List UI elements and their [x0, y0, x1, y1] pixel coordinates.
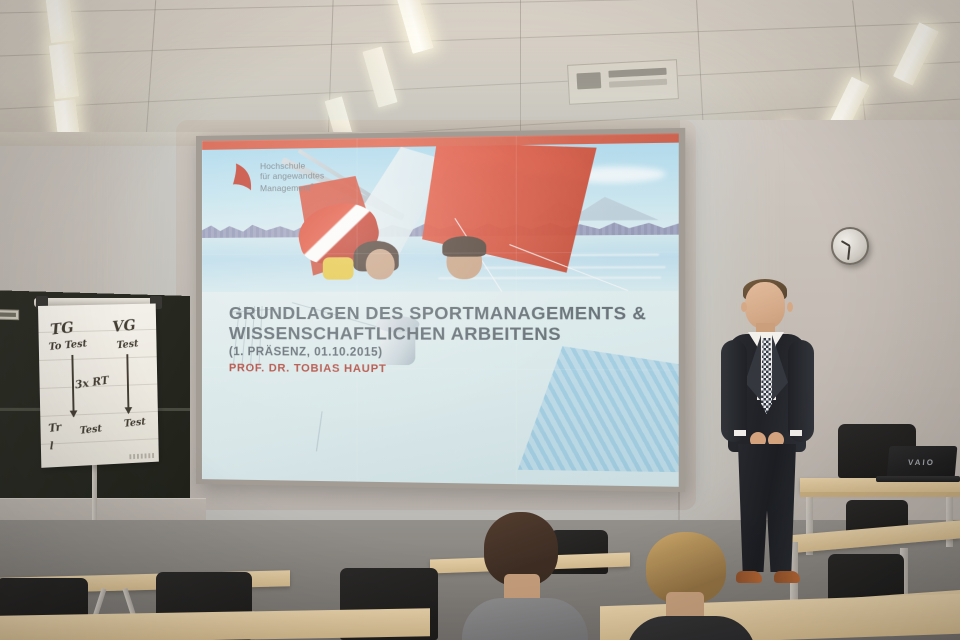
ceiling-light [362, 46, 397, 107]
ceiling-air-vent [567, 59, 679, 105]
flipchart-left-top: To Test [48, 338, 87, 353]
lecture-room-photo: Hochschule für angewandtes Management® G… [0, 0, 960, 640]
student-top [626, 616, 756, 640]
laptop-base[interactable] [876, 476, 960, 482]
slide-logo: Hochschule für angewandtes Management® [232, 161, 324, 194]
student-front-right [630, 532, 750, 640]
flipchart-right-bottom: Test [124, 417, 147, 430]
red-sail-logo-icon [232, 162, 253, 192]
flipchart-left-heading: TG [49, 318, 74, 338]
flipchart-middle-note: 3x RT [74, 374, 109, 392]
ceiling-light [893, 22, 939, 86]
logo-line-2: für angewandtes [260, 171, 324, 181]
flipchart-right-top: Test [116, 338, 139, 351]
student-front-left [462, 512, 582, 640]
flipchart-right-heading: VG [112, 316, 137, 336]
presenter-arm [721, 340, 747, 442]
presenter-arm [788, 340, 814, 442]
presenter-head [745, 282, 785, 329]
flipchart-brand-mark [129, 453, 154, 459]
presenter-tie [761, 338, 772, 414]
logo-trademark: ® [311, 183, 314, 188]
ceiling-light [45, 0, 75, 43]
slide-subtitle: (1. PRÄSENZ, 01.10.2015) [229, 346, 667, 360]
student-top [462, 598, 588, 640]
presenter-shoe [774, 571, 800, 583]
wall-clock [831, 227, 869, 265]
teacher-desk-edge [800, 492, 960, 497]
slide-text-block: GRUNDLAGEN DES SPORTMANAGEMENTS & WISSEN… [229, 303, 667, 377]
board-label-tag [0, 309, 19, 320]
flipchart-tick: l [50, 441, 54, 452]
flipchart-left-bottom-b: Test [79, 423, 102, 436]
logo-line-3: Management [260, 183, 310, 194]
ceiling-light [49, 43, 79, 100]
flipchart-left-bottom-a: Tr [48, 420, 62, 435]
laptop-screen[interactable]: VAIO [887, 446, 958, 478]
projection-screen: Hochschule für angewandtes Management® G… [196, 128, 685, 492]
slide-title-line-2: WISSENSCHAFTLICHEN ARBEITENS [229, 323, 667, 344]
slide-title-line-1: GRUNDLAGEN DES SPORTMANAGEMENTS & [229, 303, 667, 324]
laptop-brand-label: VAIO [908, 458, 936, 467]
presentation-slide: Hochschule für angewandtes Management® G… [202, 133, 679, 487]
clock-minute-hand [848, 246, 851, 260]
slide-logo-text: Hochschule für angewandtes Management® [260, 161, 324, 194]
ceiling-light [396, 0, 434, 54]
flipchart-paper: TG VG To Test Test 3x RT Tr Test Test l [38, 304, 159, 468]
